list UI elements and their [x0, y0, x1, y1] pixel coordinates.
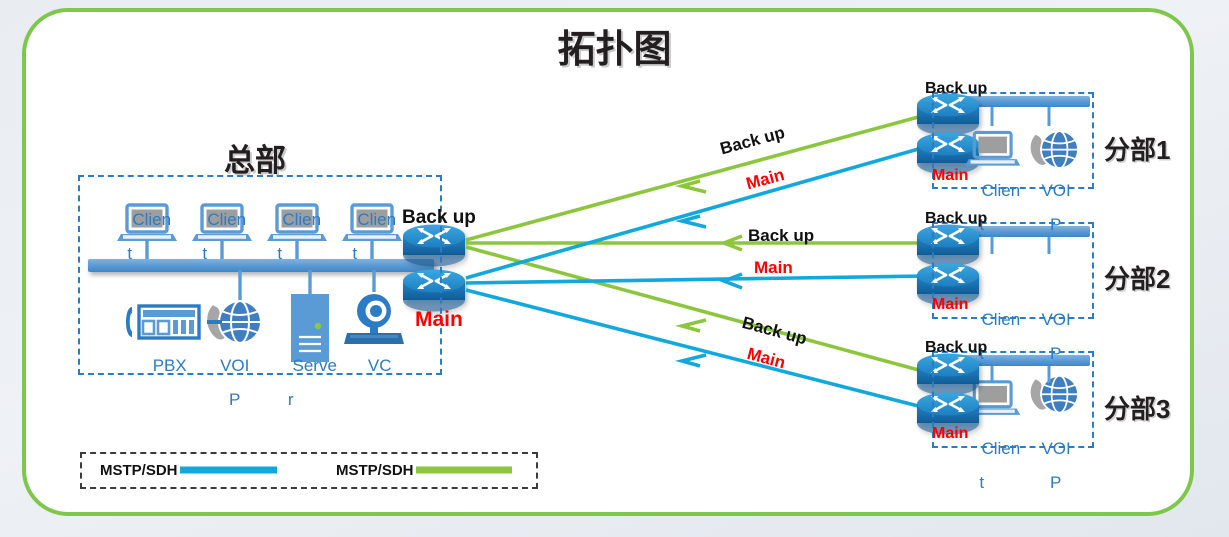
hq-router-main-label: Main	[415, 308, 463, 332]
branch-1-title: 分部1	[1104, 130, 1170, 167]
branch-3-client-label: Clien t	[972, 423, 1018, 491]
branch-2-main-label: Main	[932, 296, 968, 314]
link-backup-label-2: Back up	[748, 226, 814, 246]
hq-client-label-4-line2: t	[352, 244, 357, 263]
branch-1-backup-label: Back up	[925, 80, 987, 98]
hq-device-label-pbx: PBX	[136, 340, 194, 374]
hq-client-label-3-line2: t	[277, 244, 282, 263]
hq-client-label-3-line1: Clien	[282, 210, 321, 229]
branch-3-voip-label-line2: P	[1050, 473, 1061, 492]
hq-router-backup-label: Back up	[402, 207, 476, 229]
branch-1-main-label: Main	[932, 167, 968, 185]
hq-client-label-1: Clien t	[118, 194, 176, 262]
branch-1-voip-label: VOI P	[1032, 165, 1070, 233]
branch-2-voip-label-line1: VOI	[1041, 310, 1070, 329]
branch-3-backup-label: Back up	[925, 339, 987, 357]
hq-client-label-4-line1: Clien	[357, 210, 396, 229]
branch-3-main-label: Main	[932, 425, 968, 443]
hq-device-label-voip: VOI P	[209, 340, 251, 408]
branch-2-voip-label-line2: P	[1050, 344, 1061, 363]
hq-device-label-pbx-text: PBX	[153, 356, 187, 375]
wan-main-links	[466, 148, 926, 408]
hq-device-label-voip-line2: P	[229, 390, 240, 409]
hq-client-label-4: Clien t	[343, 194, 401, 262]
hq-client-label-2: Clien t	[193, 194, 251, 262]
branch-3-title: 分部3	[1104, 389, 1170, 426]
link-main-label-2: Main	[754, 258, 793, 278]
branch-3-client-label-line1: Clien	[981, 439, 1020, 458]
hq-client-label-1-line2: t	[127, 244, 132, 263]
branch-2-client-label-line1: Clien	[981, 310, 1020, 329]
hq-device-label-voip-line1: VOI	[220, 356, 249, 375]
branch-1-voip-label-line1: VOI	[1041, 181, 1070, 200]
legend-item-2-label: MSTP/SDH	[336, 462, 414, 479]
hq-device-label-server-line2: r	[288, 390, 294, 409]
branch-2-backup-label: Back up	[925, 210, 987, 228]
legend-item-1-label: MSTP/SDH	[100, 462, 178, 479]
branch-3-voip-label-line1: VOI	[1041, 439, 1070, 458]
hq-device-label-vc-text: VC	[368, 356, 392, 375]
branch-1-voip-label-line2: P	[1050, 215, 1061, 234]
hq-client-label-1-line1: Clien	[132, 210, 171, 229]
branch-2-voip-label: VOI P	[1032, 294, 1070, 362]
branch-1-client-label-line1: Clien	[981, 181, 1020, 200]
hq-client-label-3: Clien t	[268, 194, 326, 262]
branch-3-client-label-line2: t	[979, 473, 984, 492]
hq-device-label-server-line1: Serve	[293, 356, 337, 375]
hq-client-label-2-line1: Clien	[207, 210, 246, 229]
branch-2-title: 分部2	[1104, 259, 1170, 296]
hq-device-label-vc: VC	[355, 340, 395, 374]
hq-client-label-2-line2: t	[202, 244, 207, 263]
hq-title: 总部	[224, 135, 286, 180]
hq-device-label-server: Serve r	[283, 340, 337, 408]
wan-backup-links	[466, 116, 926, 372]
branch-3-voip-label: VOI P	[1032, 423, 1070, 491]
